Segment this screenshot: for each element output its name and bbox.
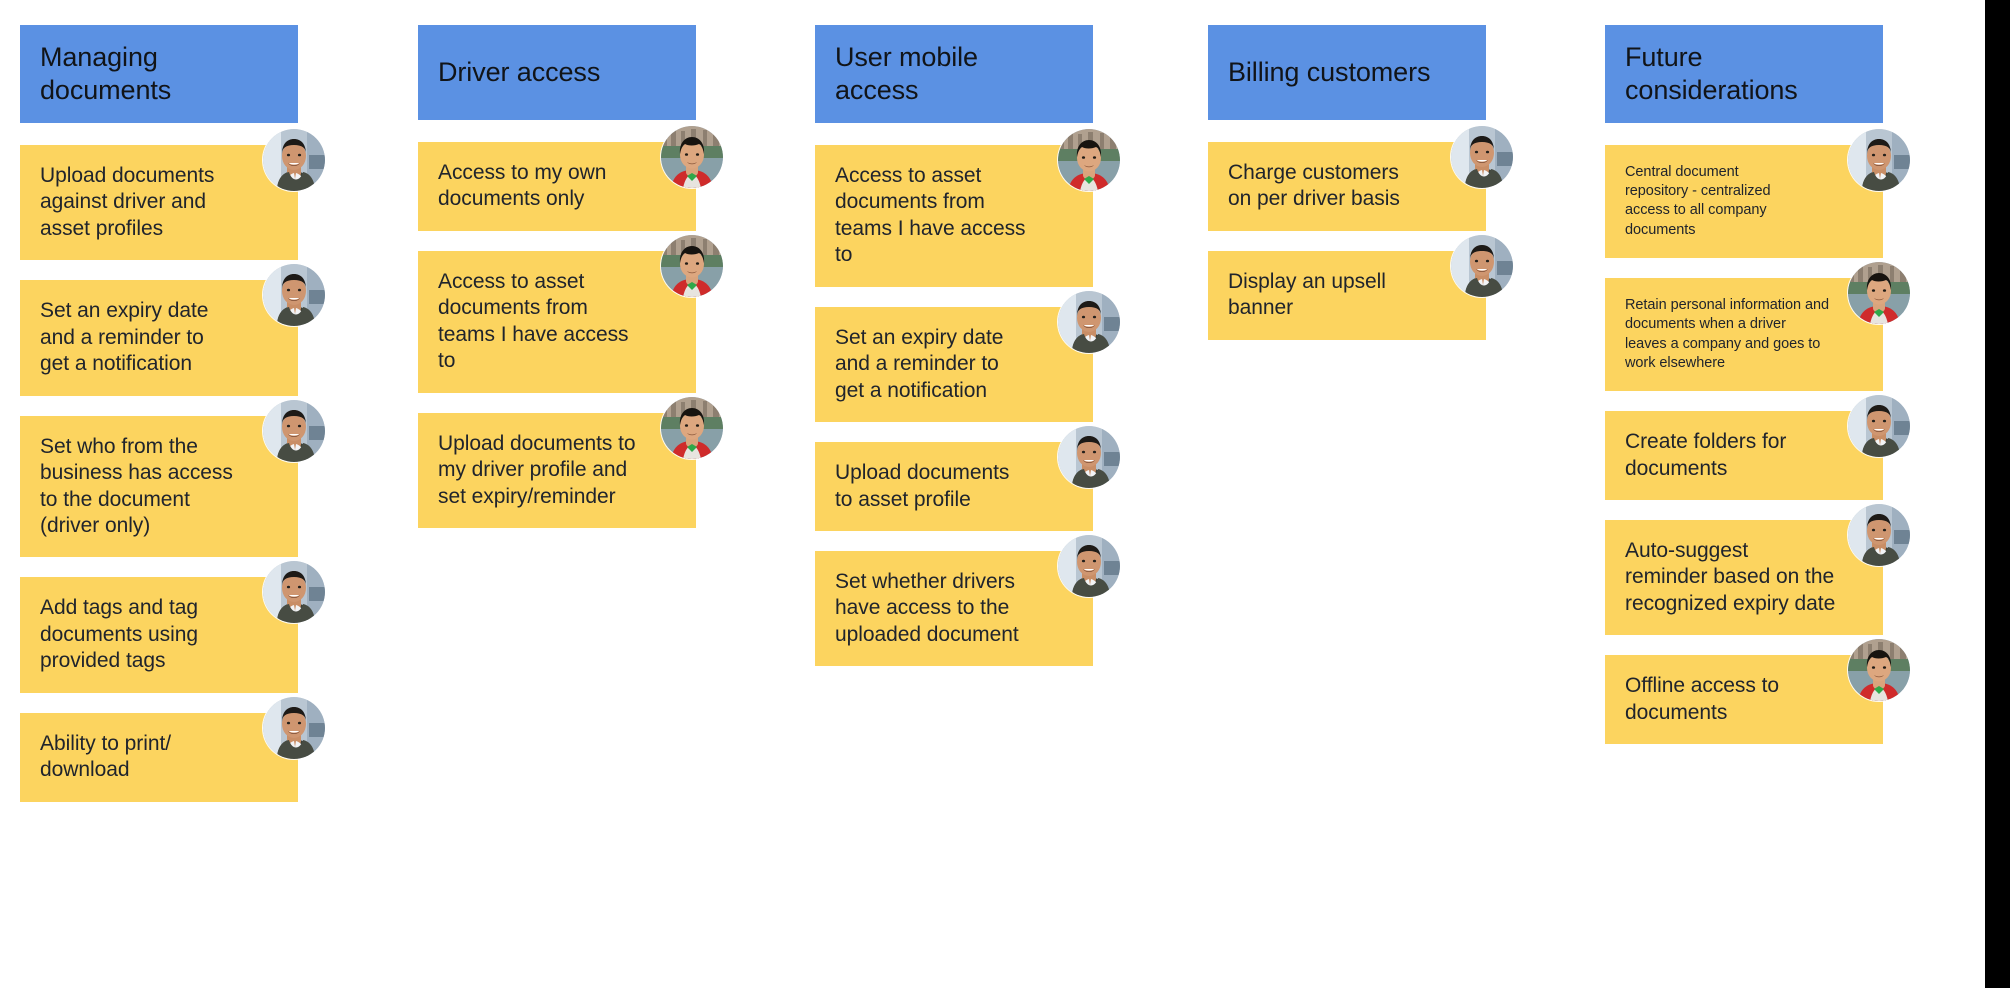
- sticky-note-body[interactable]: Access to asset documents from teams I h…: [418, 251, 696, 393]
- sticky-note-body[interactable]: Access to asset documents from teams I h…: [815, 145, 1093, 287]
- column-header-future-considerations[interactable]: Future considerations: [1605, 25, 1883, 123]
- author-avatar-icon[interactable]: [1848, 262, 1910, 324]
- sticky-note-text: Access to asset documents from teams I h…: [438, 269, 628, 375]
- author-avatar-icon[interactable]: [263, 561, 325, 623]
- author-avatar-icon[interactable]: [1058, 426, 1120, 488]
- sticky-note-body[interactable]: Set who from the business has access to …: [20, 416, 298, 558]
- column-header-managing-documents[interactable]: Managing documents: [20, 25, 298, 123]
- sticky-note-body[interactable]: Central document repository - centralize…: [1605, 145, 1883, 258]
- sticky-note[interactable]: Create folders for documents: [1605, 411, 1883, 500]
- sticky-note[interactable]: Offline access to documents: [1605, 655, 1883, 744]
- sticky-note-body[interactable]: Set an expiry date and a reminder to get…: [20, 280, 298, 395]
- author-avatar-icon[interactable]: [263, 400, 325, 462]
- author-avatar-icon[interactable]: [1848, 639, 1910, 701]
- sticky-note-body[interactable]: Upload documents to asset profile: [815, 442, 1093, 531]
- author-avatar-icon[interactable]: [661, 235, 723, 297]
- sticky-note[interactable]: Upload documents against driver and asse…: [20, 145, 298, 260]
- board-column-driver-access: Driver accessAccess to my own documents …: [418, 25, 696, 548]
- sticky-note-text: Set an expiry date and a reminder to get…: [835, 325, 1003, 404]
- sticky-note-body[interactable]: Set whether drivers have access to the u…: [815, 551, 1093, 666]
- sticky-note[interactable]: Set who from the business has access to …: [20, 416, 298, 558]
- sticky-note-text: Set who from the business has access to …: [40, 434, 233, 540]
- author-avatar-icon[interactable]: [1058, 291, 1120, 353]
- column-title: Managing documents: [40, 41, 171, 107]
- sticky-note-text: Central document repository - centralize…: [1625, 163, 1770, 240]
- author-avatar-icon[interactable]: [1451, 235, 1513, 297]
- author-avatar-icon[interactable]: [1848, 395, 1910, 457]
- column-header-billing-customers[interactable]: Billing customers: [1208, 25, 1486, 120]
- sticky-note-text: Upload documents against driver and asse…: [40, 163, 214, 242]
- sticky-note[interactable]: Access to my own documents only: [418, 142, 696, 231]
- sticky-note-text: Access to my own documents only: [438, 160, 606, 213]
- sticky-note[interactable]: Add tags and tag documents using provide…: [20, 577, 298, 692]
- sticky-note-text: Set whether drivers have access to the u…: [835, 569, 1019, 648]
- author-avatar-icon[interactable]: [263, 697, 325, 759]
- sticky-note-text: Set an expiry date and a reminder to get…: [40, 298, 208, 377]
- sticky-note-text: Display an upsell banner: [1228, 269, 1386, 322]
- sticky-note[interactable]: Central document repository - centralize…: [1605, 145, 1883, 258]
- sticky-note-body[interactable]: Access to my own documents only: [418, 142, 696, 231]
- sticky-note[interactable]: Auto-suggest reminder based on the recog…: [1605, 520, 1883, 635]
- author-avatar-icon[interactable]: [1848, 504, 1910, 566]
- board-column-future-considerations: Future considerationsCentral document re…: [1605, 25, 1883, 764]
- sticky-note-body[interactable]: Create folders for documents: [1605, 411, 1883, 500]
- author-avatar-icon[interactable]: [661, 126, 723, 188]
- sticky-note-text: Ability to print/ download: [40, 731, 171, 784]
- sticky-note[interactable]: Upload documents to asset profile: [815, 442, 1093, 531]
- sticky-note[interactable]: Charge customers on per driver basis: [1208, 142, 1486, 231]
- sticky-note-text: Offline access to documents: [1625, 673, 1779, 726]
- sticky-note-body[interactable]: Upload documents against driver and asse…: [20, 145, 298, 260]
- sticky-note-board: Managing documentsUpload documents again…: [0, 0, 1985, 988]
- sticky-note[interactable]: Retain personal information and document…: [1605, 278, 1883, 391]
- board-column-billing-customers: Billing customersCharge customers on per…: [1208, 25, 1486, 360]
- sticky-note[interactable]: Set an expiry date and a reminder to get…: [20, 280, 298, 395]
- sticky-note[interactable]: Access to asset documents from teams I h…: [418, 251, 696, 393]
- author-avatar-icon[interactable]: [1848, 129, 1910, 191]
- sticky-note-body[interactable]: Display an upsell banner: [1208, 251, 1486, 340]
- sticky-note-body[interactable]: Add tags and tag documents using provide…: [20, 577, 298, 692]
- column-header-user-mobile-access[interactable]: User mobile access: [815, 25, 1093, 123]
- author-avatar-icon[interactable]: [1451, 126, 1513, 188]
- sticky-note-body[interactable]: Offline access to documents: [1605, 655, 1883, 744]
- author-avatar-icon[interactable]: [1058, 535, 1120, 597]
- board-column-managing-documents: Managing documentsUpload documents again…: [20, 25, 298, 822]
- sticky-note-body[interactable]: Retain personal information and document…: [1605, 278, 1883, 391]
- column-title: Driver access: [438, 56, 600, 89]
- column-title: Billing customers: [1228, 56, 1430, 89]
- sticky-note-body[interactable]: Set an expiry date and a reminder to get…: [815, 307, 1093, 422]
- sticky-note-body[interactable]: Upload documents to my driver profile an…: [418, 413, 696, 528]
- author-avatar-icon[interactable]: [1058, 129, 1120, 191]
- sticky-note[interactable]: Set whether drivers have access to the u…: [815, 551, 1093, 666]
- canvas-right-edge: [1985, 0, 2010, 988]
- author-avatar-icon[interactable]: [263, 264, 325, 326]
- sticky-note-text: Charge customers on per driver basis: [1228, 160, 1400, 213]
- sticky-note-body[interactable]: Ability to print/ download: [20, 713, 298, 802]
- sticky-note-text: Create folders for documents: [1625, 429, 1786, 482]
- sticky-note[interactable]: Upload documents to my driver profile an…: [418, 413, 696, 528]
- sticky-note[interactable]: Display an upsell banner: [1208, 251, 1486, 340]
- board-column-user-mobile-access: User mobile accessAccess to asset docume…: [815, 25, 1093, 686]
- sticky-note-body[interactable]: Charge customers on per driver basis: [1208, 142, 1486, 231]
- sticky-note-text: Retain personal information and document…: [1625, 296, 1829, 373]
- column-title: Future considerations: [1625, 41, 1798, 107]
- author-avatar-icon[interactable]: [263, 129, 325, 191]
- sticky-note[interactable]: Ability to print/ download: [20, 713, 298, 802]
- column-title: User mobile access: [835, 41, 978, 107]
- author-avatar-icon[interactable]: [661, 397, 723, 459]
- sticky-note-text: Auto-suggest reminder based on the recog…: [1625, 538, 1835, 617]
- sticky-note-text: Upload documents to my driver profile an…: [438, 431, 636, 510]
- sticky-note-text: Access to asset documents from teams I h…: [835, 163, 1025, 269]
- sticky-note-text: Upload documents to asset profile: [835, 460, 1009, 513]
- sticky-note[interactable]: Set an expiry date and a reminder to get…: [815, 307, 1093, 422]
- sticky-note-text: Add tags and tag documents using provide…: [40, 595, 198, 674]
- sticky-note-body[interactable]: Auto-suggest reminder based on the recog…: [1605, 520, 1883, 635]
- column-header-driver-access[interactable]: Driver access: [418, 25, 696, 120]
- sticky-note[interactable]: Access to asset documents from teams I h…: [815, 145, 1093, 287]
